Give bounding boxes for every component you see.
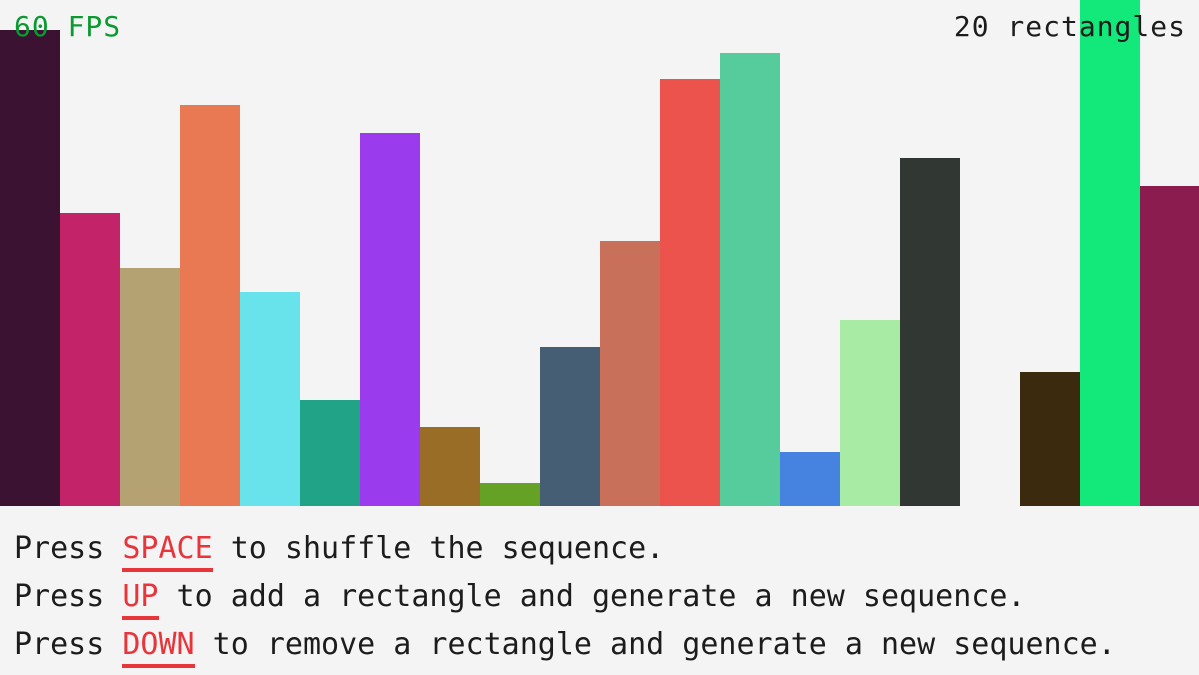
instruction-remove-prefix: Press — [14, 627, 122, 662]
bar-7-purple — [360, 133, 420, 506]
bar-6-teal — [300, 400, 360, 506]
bar-16-charcoal — [900, 158, 960, 506]
fps-counter: 60 FPS — [14, 13, 121, 41]
bar-2-magenta — [60, 213, 120, 506]
bar-4-orange — [180, 105, 240, 506]
instruction-remove-suffix: to remove a rectangle and generate a new… — [195, 627, 1116, 662]
instruction-shuffle-suffix: to shuffle the sequence. — [213, 531, 665, 566]
bar-5-cyan — [240, 292, 300, 506]
rectangle-count-label: 20 rectangles — [954, 13, 1186, 41]
instruction-add-prefix: Press — [14, 579, 122, 614]
instruction-add-suffix: to add a rectangle and generate a new se… — [159, 579, 1026, 614]
bar-chart-canvas[interactable] — [0, 0, 1199, 506]
key-up[interactable]: UP — [122, 579, 158, 620]
bar-15-light-green — [840, 320, 900, 506]
bar-14-blue — [780, 452, 840, 506]
bar-3-tan — [120, 268, 180, 506]
bar-20-dark-magenta — [1140, 186, 1199, 506]
instruction-add: Press UP to add a rectangle and generate… — [14, 582, 1025, 612]
bar-13-medium-green — [720, 53, 780, 506]
bar-9-olive-green — [480, 483, 540, 506]
bar-10-slate-blue — [540, 347, 600, 506]
rectangle-sequence-app: 60 FPS 20 rectangles Press SPACE to shuf… — [0, 0, 1199, 675]
instruction-shuffle: Press SPACE to shuffle the sequence. — [14, 534, 664, 564]
bar-11-terracotta — [600, 241, 660, 506]
instruction-remove: Press DOWN to remove a rectangle and gen… — [14, 630, 1116, 660]
instruction-shuffle-prefix: Press — [14, 531, 122, 566]
bar-19-spring-green — [1080, 0, 1140, 506]
bar-12-red — [660, 79, 720, 506]
key-down[interactable]: DOWN — [122, 627, 194, 668]
instructions-panel: Press SPACE to shuffle the sequence. Pre… — [0, 506, 1199, 675]
bar-18-dark-brown — [1020, 372, 1080, 506]
key-space[interactable]: SPACE — [122, 531, 212, 572]
bar-8-brown — [420, 427, 480, 506]
bar-1-dark-plum — [0, 30, 60, 506]
